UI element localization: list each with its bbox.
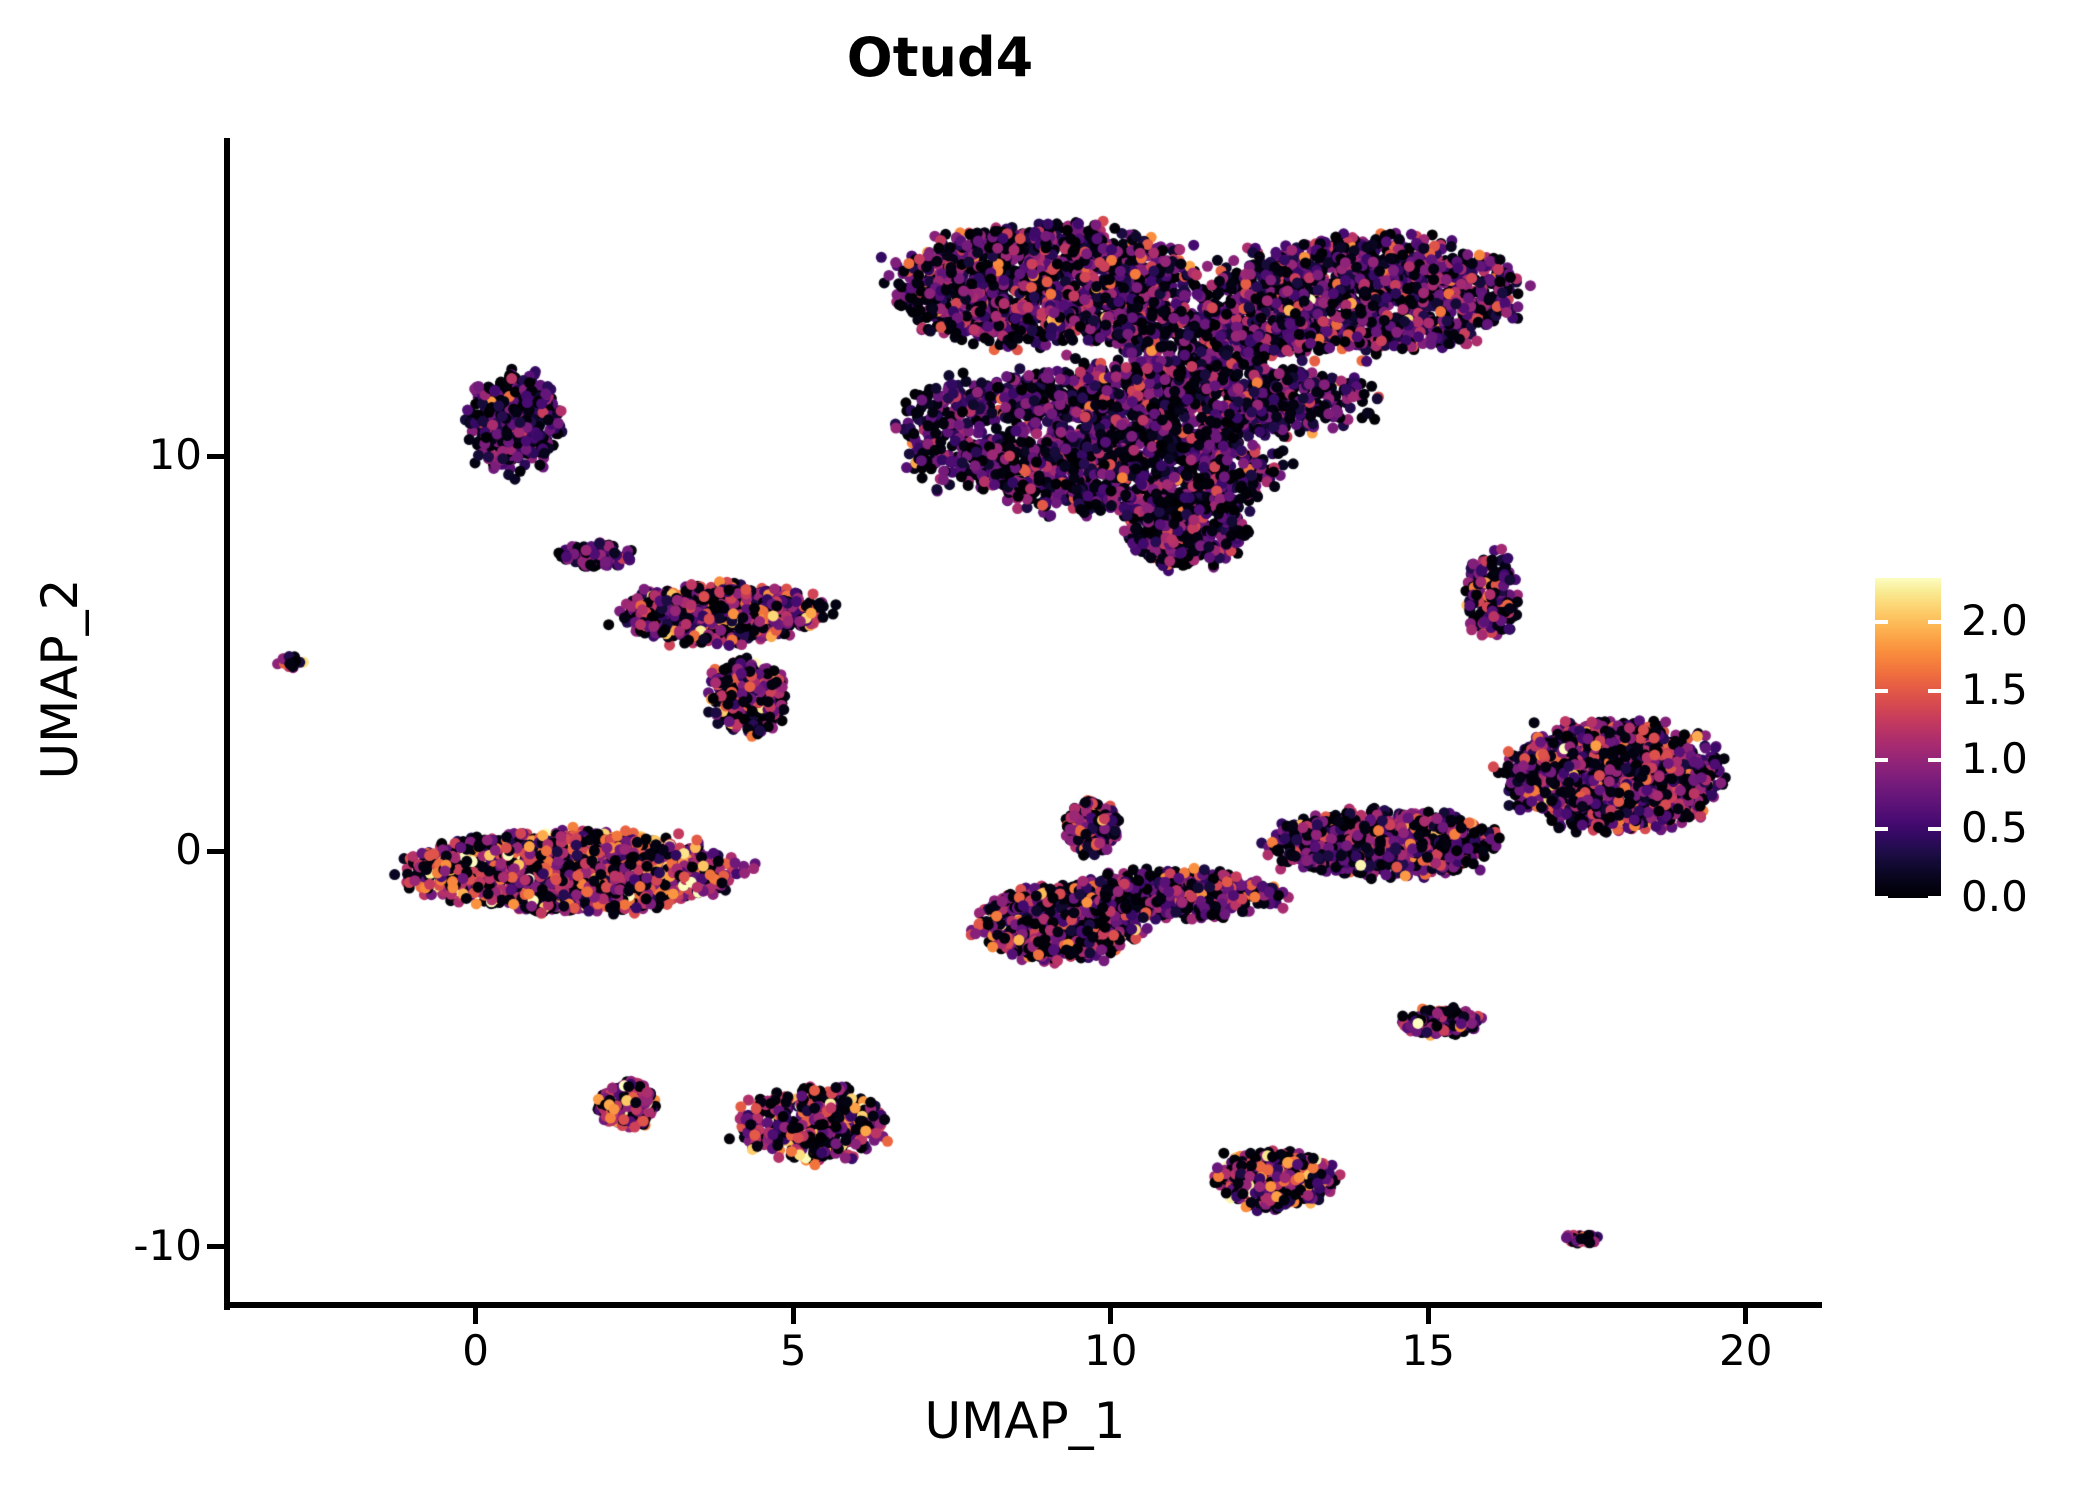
x-tick-mark	[1743, 1307, 1748, 1324]
colorbar-tick-label: 0.0	[1961, 876, 2028, 918]
y-tick-label: 0	[175, 829, 202, 871]
x-tick-label: 0	[416, 1330, 536, 1372]
y-tick-mark	[207, 849, 224, 854]
colorbar-tick-label: 1.5	[1961, 669, 2028, 711]
y-tick-mark	[207, 1244, 224, 1249]
umap-feature-plot: Otud4 -10010 05101520 UMAP_1 UMAP_2 0.00…	[0, 0, 2100, 1500]
y-tick-label: 10	[149, 434, 202, 476]
x-tick-label: 20	[1686, 1330, 1806, 1372]
x-tick-label: 5	[733, 1330, 853, 1372]
plot-area	[228, 140, 1822, 1306]
x-tick-mark	[1426, 1307, 1431, 1324]
y-axis-spine	[224, 138, 230, 1310]
page-title: Otud4	[0, 26, 1880, 89]
x-axis-spine	[224, 1302, 1822, 1308]
y-tick-mark	[207, 454, 224, 459]
colorbar-tick-label: 0.5	[1961, 807, 2028, 849]
y-axis-label: UMAP_2	[31, 329, 89, 1029]
x-tick-label: 15	[1368, 1330, 1488, 1372]
colorbar-gradient	[1875, 578, 1941, 898]
x-tick-mark	[1108, 1307, 1113, 1324]
x-axis-label: UMAP_1	[228, 1392, 1822, 1450]
x-tick-mark	[473, 1307, 478, 1324]
scatter-canvas	[228, 140, 1822, 1306]
x-tick-label: 10	[1051, 1330, 1171, 1372]
x-tick-mark	[791, 1307, 796, 1324]
colorbar-tick-label: 1.0	[1961, 738, 2028, 780]
colorbar-tick-label: 2.0	[1961, 600, 2028, 642]
y-tick-label: -10	[133, 1225, 202, 1267]
